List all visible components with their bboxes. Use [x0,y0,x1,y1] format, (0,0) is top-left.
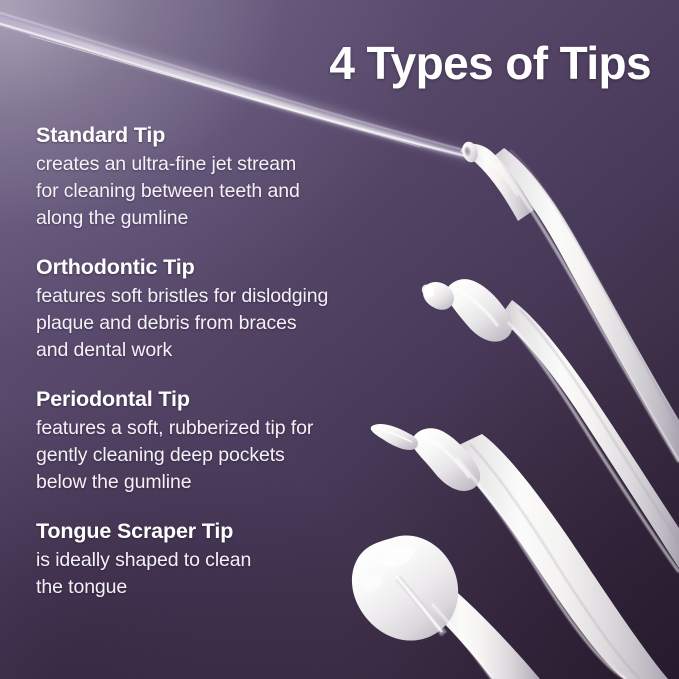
tips-infographic: 4 Types of Tips Standard Tip creates an … [0,0,679,679]
tip-block-orthodontic: Orthodontic Tip features soft bristles f… [36,254,396,364]
tip-name-standard: Standard Tip [36,122,396,150]
tip-name-tongue-scraper: Tongue Scraper Tip [36,518,396,546]
tip-block-standard: Standard Tip creates an ultra-fine jet s… [36,122,396,232]
tip-desc-line: creates an ultra-fine jet stream [36,151,396,178]
tip-desc-line: plaque and debris from braces [36,310,396,337]
page-title: 4 Types of Tips [329,36,651,90]
tip-desc-line: below the gumline [36,469,396,496]
tip-desc-line: the tongue [36,574,396,601]
tip-block-tongue-scraper: Tongue Scraper Tip is ideally shaped to … [36,518,396,601]
tip-description-orthodontic: features soft bristles for dislodging pl… [36,283,396,364]
tip-desc-line: features soft bristles for dislodging [36,283,396,310]
tip-desc-line: gently cleaning deep pockets [36,442,396,469]
tip-desc-line: and dental work [36,337,396,364]
tip-description-standard: creates an ultra-fine jet stream for cle… [36,151,396,232]
tip-desc-line: is ideally shaped to clean [36,547,396,574]
tip-description-tongue-scraper: is ideally shaped to clean the tongue [36,547,396,601]
tip-desc-line: features a soft, rubberized tip for [36,415,396,442]
tip-name-periodontal: Periodontal Tip [36,386,396,414]
tip-desc-line: for cleaning between teeth and [36,178,396,205]
tip-block-periodontal: Periodontal Tip features a soft, rubberi… [36,386,396,496]
tip-name-orthodontic: Orthodontic Tip [36,254,396,282]
tips-list: Standard Tip creates an ultra-fine jet s… [36,122,396,623]
tip-description-periodontal: features a soft, rubberized tip for gent… [36,415,396,496]
tip-desc-line: along the gumline [36,205,396,232]
